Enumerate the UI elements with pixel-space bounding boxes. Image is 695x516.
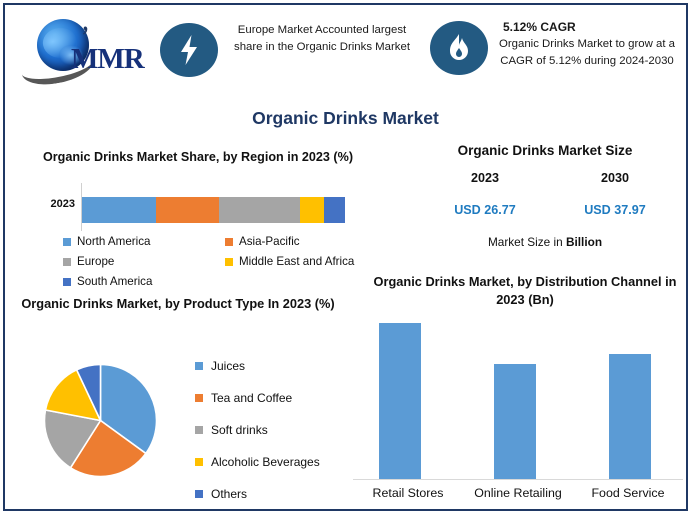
page-title: Organic Drinks Market	[5, 108, 686, 129]
region-chart-title: Organic Drinks Market Share, by Region i…	[23, 148, 373, 166]
distribution-chart-x-labels: Retail Stores Online Retailing Food Serv…	[353, 486, 683, 500]
legend-label: Soft drinks	[211, 423, 268, 437]
pie-slice-group	[44, 365, 156, 477]
cagr-block: 5.12% CAGR Organic Drinks Market to grow…	[497, 19, 677, 70]
product-type-pie-chart	[43, 363, 158, 478]
legend-item-others: Others	[195, 478, 355, 510]
legend-label: Juices	[211, 359, 245, 373]
market-size-footnote-unit: Billion	[566, 235, 602, 249]
mmr-logo: ’ MMR	[19, 15, 147, 81]
market-size-title: Organic Drinks Market Size	[405, 143, 685, 158]
logo-text: MMR	[71, 43, 144, 76]
legend-item-south-america: South America	[63, 273, 225, 290]
legend-label: Asia-Pacific	[239, 235, 300, 248]
legend-item-europe: Europe	[63, 253, 225, 270]
legend-label: Tea and Coffee	[211, 391, 292, 405]
x-label-food-service: Food Service	[573, 486, 683, 500]
header-bar: ’ MMR Europe Market Accounted largest sh…	[5, 5, 686, 93]
product-type-chart-title: Organic Drinks Market, by Product Type I…	[13, 295, 343, 313]
market-size-value-2023: USD 26.77	[430, 203, 540, 217]
product-type-legend: Juices Tea and Coffee Soft drinks Alcoho…	[195, 350, 355, 510]
legend-item-tea-and-coffee: Tea and Coffee	[195, 382, 355, 414]
market-size-year-2023: 2023	[430, 171, 540, 185]
x-label-retail-stores: Retail Stores	[353, 486, 463, 500]
legend-label: North America	[77, 235, 150, 248]
header-highlight-text: Europe Market Accounted largest share in…	[227, 22, 417, 56]
market-size-year-2030: 2030	[560, 171, 670, 185]
legend-swatch-icon	[195, 426, 203, 434]
flame-icon	[430, 21, 488, 75]
bar-segment-europe	[219, 197, 301, 223]
region-stacked-bar	[82, 197, 345, 223]
bar-retail-stores	[379, 323, 421, 480]
x-label-online-retailing: Online Retailing	[463, 486, 573, 500]
cagr-description: Organic Drinks Market to grow at a CAGR …	[499, 38, 675, 67]
legend-item-asia-pacific: Asia-Pacific	[225, 233, 373, 250]
market-size-value-2030: USD 37.97	[560, 203, 670, 217]
legend-item-soft-drinks: Soft drinks	[195, 414, 355, 446]
legend-label: Alcoholic Beverages	[211, 455, 320, 469]
legend-item-juices: Juices	[195, 350, 355, 382]
bar-segment-south-america	[324, 197, 345, 223]
infographic-frame: ’ MMR Europe Market Accounted largest sh…	[3, 3, 688, 511]
legend-swatch-icon	[63, 258, 71, 266]
legend-swatch-icon	[195, 458, 203, 466]
legend-item-alcoholic-beverages: Alcoholic Beverages	[195, 446, 355, 478]
legend-item-middle-east-africa: Middle East and Africa	[225, 253, 373, 270]
legend-label: Middle East and Africa	[239, 255, 354, 268]
market-size-footnote: Market Size in Billion	[405, 235, 685, 249]
bar-segment-asia-pacific	[156, 197, 219, 223]
bar-online-retailing	[494, 364, 536, 480]
legend-swatch-icon	[63, 278, 71, 286]
legend-swatch-icon	[63, 238, 71, 246]
lightning-bolt-icon	[160, 23, 218, 77]
legend-swatch-icon	[195, 394, 203, 402]
legend-item-north-america: North America	[63, 233, 225, 250]
legend-label: South America	[77, 275, 152, 288]
legend-swatch-icon	[195, 490, 203, 498]
distribution-chart-baseline	[353, 479, 683, 480]
bar-segment-mea	[300, 197, 324, 223]
region-chart-legend: North America Asia-Pacific Europe Middle…	[63, 233, 373, 290]
bar-segment-north-america	[82, 197, 156, 223]
distribution-chart-title: Organic Drinks Market, by Distribution C…	[365, 273, 685, 309]
legend-swatch-icon	[225, 238, 233, 246]
legend-label: Others	[211, 487, 247, 501]
region-chart-category-label: 2023	[27, 198, 75, 210]
legend-swatch-icon	[225, 258, 233, 266]
legend-label: Europe	[77, 255, 114, 268]
cagr-title: 5.12% CAGR	[497, 19, 677, 36]
bar-food-service	[609, 354, 651, 480]
market-size-footnote-prefix: Market Size in	[488, 235, 566, 249]
legend-swatch-icon	[195, 362, 203, 370]
distribution-chart-plot	[353, 315, 683, 480]
